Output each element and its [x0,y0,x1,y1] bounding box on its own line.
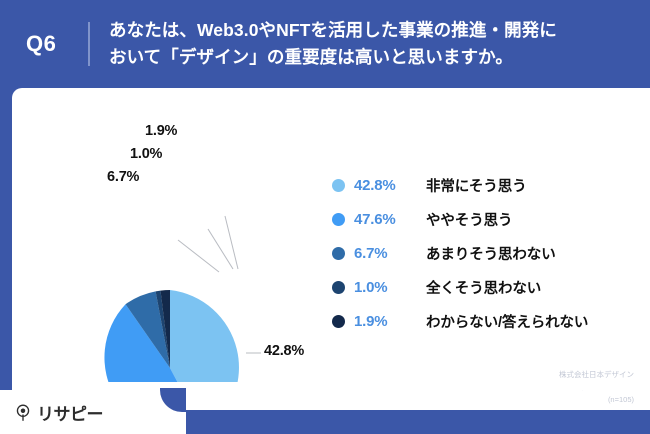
footer-bar: リサピー [0,390,650,434]
legend-label: 全くそう思わない [426,277,541,298]
legend-item-very-agree: 42.8% 非常にそう思う [332,168,642,202]
legend-dot-icon [332,281,345,294]
legend-dot-icon [332,247,345,260]
legend-item-somewhat-agree: 47.6% ややそう思う [332,202,642,236]
question-text: あなたは、Web3.0やNFTを活用した事業の推進・開発に おいて「デザイン」の… [109,17,557,70]
legend-percent: 42.8% [354,177,426,194]
legend-percent: 6.7% [354,245,426,262]
pie-value-label-not-much: 6.7% [107,169,139,185]
pie-slices [104,290,239,388]
chart-legend: 42.8% 非常にそう思う 47.6% ややそう思う 6.7% あまりそう思わな… [332,168,642,338]
legend-item-dont-know: 1.9% わからない/答えられない [332,304,642,338]
pie-value-label-not-at-all: 1.0% [130,146,162,162]
pie-value-label-dont-know: 1.9% [145,123,177,139]
question-number: Q6 [26,31,88,57]
question-header: Q6 あなたは、Web3.0やNFTを活用した事業の推進・開発に おいて「デザイ… [0,0,650,88]
legend-dot-icon [332,213,345,226]
pie-chart: 42.8% 47.6% 6.7% 1.0% 1.9% [12,88,342,388]
legend-item-not-at-all: 1.0% 全くそう思わない [332,270,642,304]
legend-label: 非常にそう思う [426,175,527,196]
legend-dot-icon [332,315,345,328]
location-pin-icon [14,404,32,422]
legend-dot-icon [332,179,345,192]
brand-name: リサピー [37,400,103,425]
legend-percent: 1.0% [354,279,426,296]
credits-company: 株式会社日本デザイン [458,369,634,381]
pie-value-label-very-agree: 42.8% [264,343,304,359]
legend-label: あまりそう思わない [426,243,556,264]
brand-logo: リサピー [14,400,103,425]
content-card: 42.8% 47.6% 6.7% 1.0% 1.9% 42.8% 非常にそう思う… [12,88,650,410]
card-bottom-strip [12,382,650,390]
leader-line-s3 [178,240,219,272]
pie-slice-very-agree [170,290,239,388]
leader-line-s5 [225,216,238,269]
legend-label: わからない/答えられない [426,311,588,332]
legend-label: ややそう思う [426,209,512,230]
legend-item-not-much: 6.7% あまりそう思わない [332,236,642,270]
header-divider [88,22,90,66]
legend-percent: 1.9% [354,313,426,330]
legend-percent: 47.6% [354,211,426,228]
